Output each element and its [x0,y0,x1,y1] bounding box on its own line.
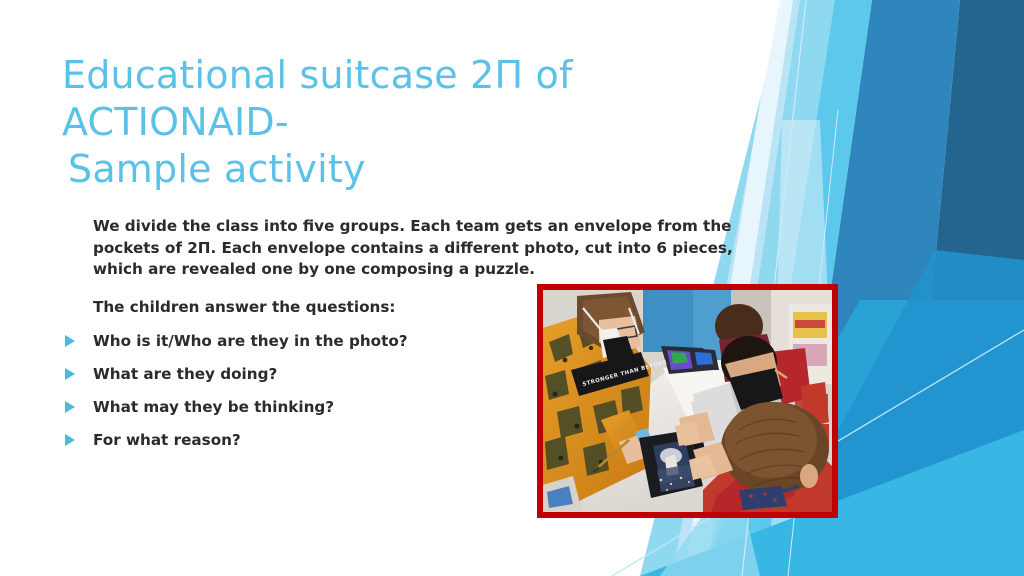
slide: Educational suitcase 2Π of ACTIONAID- Sa… [0,0,1024,576]
classroom-photo-frame: STRONGER THAN BEFORE [537,284,838,518]
list-item-label: For what reason? [93,431,241,449]
classroom-photo-illustration: STRONGER THAN BEFORE [543,290,832,512]
triangle-bullet-icon [65,368,75,380]
slide-title-line-2: Sample activity [62,146,762,193]
list-item-label: Who is it/Who are they in the photo? [93,332,408,350]
slide-title: Educational suitcase 2Π of ACTIONAID- Sa… [62,52,762,193]
classroom-photo: STRONGER THAN BEFORE [543,290,832,512]
slide-title-line-1: Educational suitcase 2Π of ACTIONAID- [62,53,573,144]
triangle-bullet-icon [65,335,75,347]
intro-paragraph: We divide the class into five groups. Ea… [56,216,753,281]
list-item-label: What may they be thinking? [93,398,334,416]
list-item-label: What are they doing? [93,365,277,383]
triangle-bullet-icon [65,434,75,446]
deco-shape-deep-blue-right [905,0,1024,576]
triangle-bullet-icon [65,401,75,413]
